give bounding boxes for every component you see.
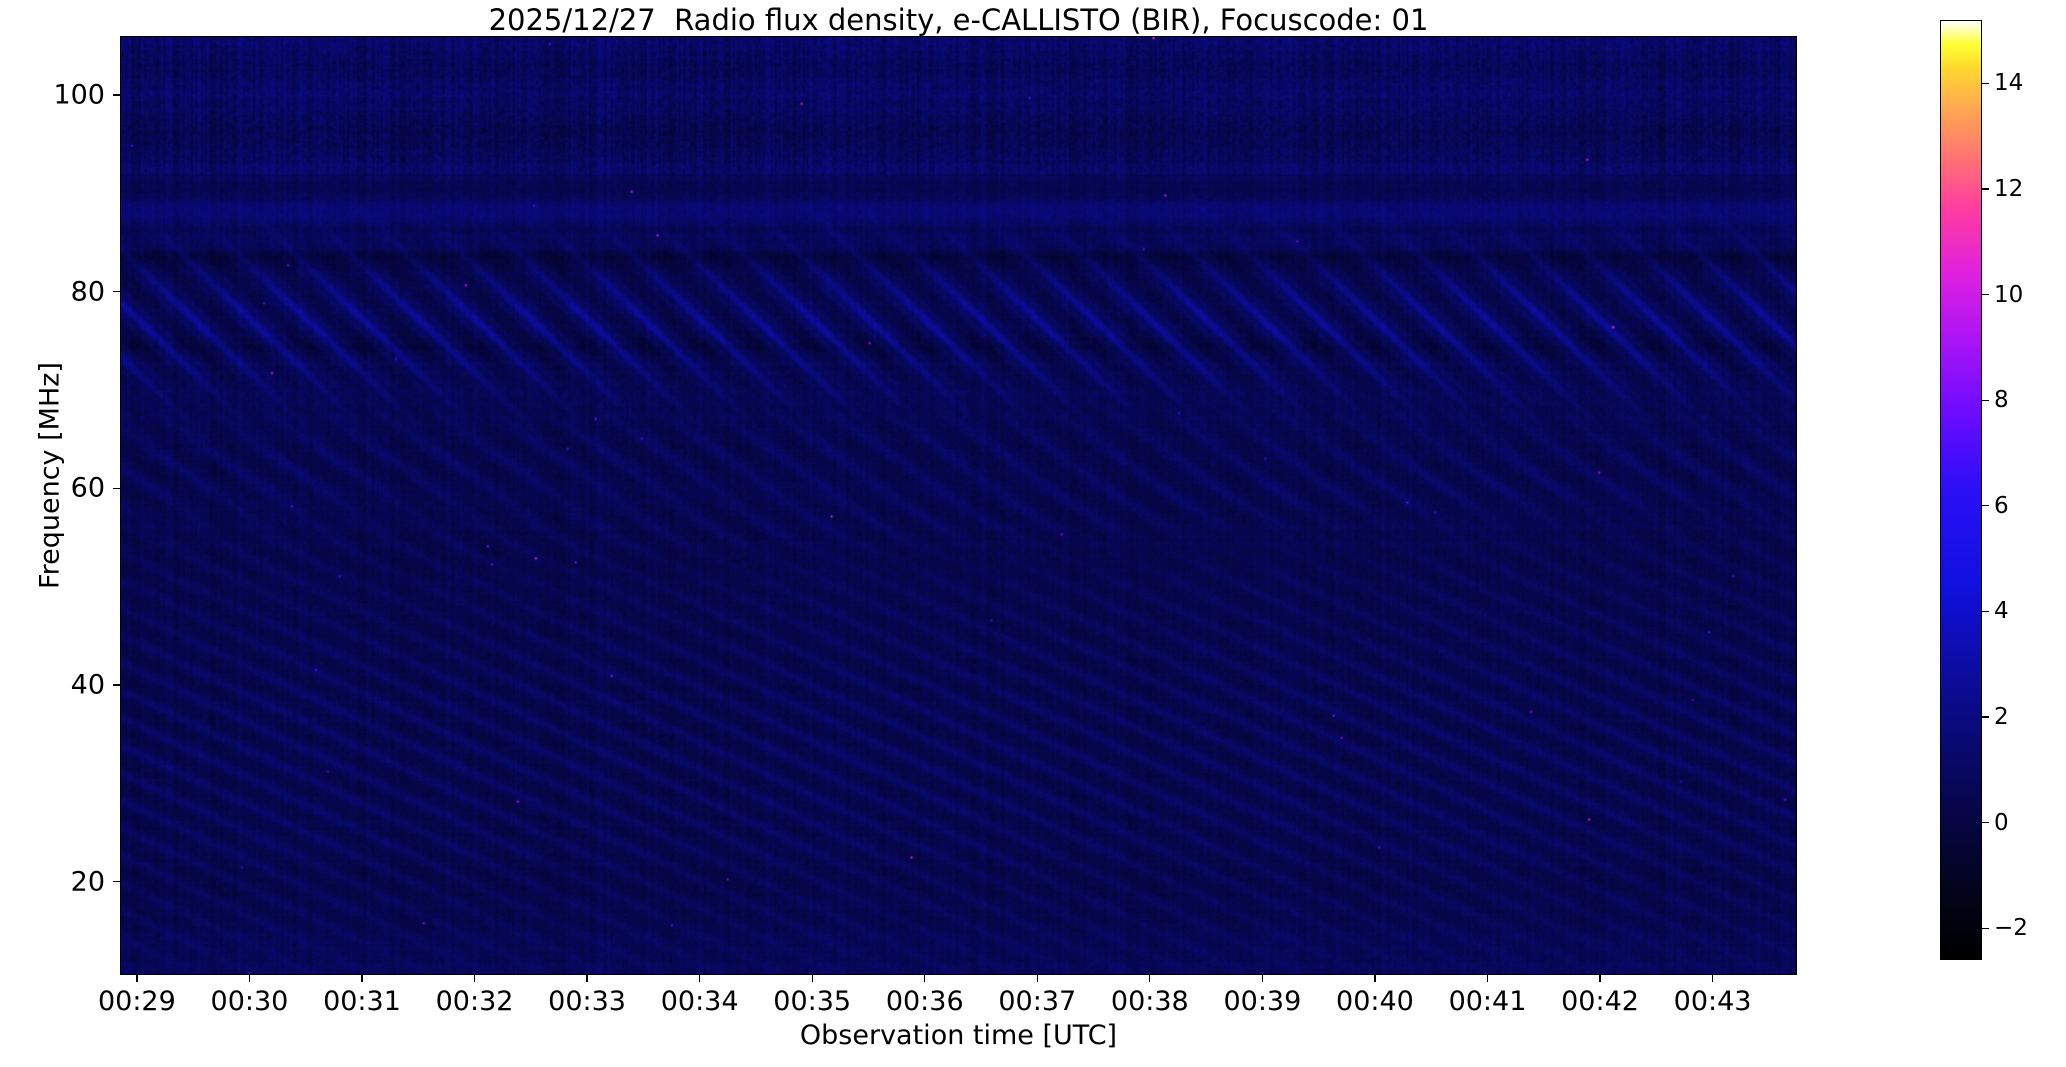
y-tick-mark (113, 684, 120, 685)
spectrogram-image (121, 37, 1796, 974)
x-axis-label: Observation time [UTC] (120, 1020, 1797, 1051)
colorbar-tick-mark (1982, 83, 1989, 84)
x-tick-mark (586, 975, 587, 982)
x-tick-mark (1712, 975, 1713, 982)
colorbar-tick-label: 8 (1994, 387, 2009, 413)
colorbar-gradient (1941, 21, 1981, 959)
colorbar-tick-label: 12 (1994, 176, 2023, 202)
x-tick-mark (1487, 975, 1488, 982)
x-tick-label: 00:31 (323, 986, 401, 1017)
y-tick-mark (113, 881, 120, 882)
colorbar-tick-label: 4 (1994, 598, 2009, 624)
colorbar-tick-label: 0 (1994, 810, 2009, 836)
x-tick-mark (1149, 975, 1150, 982)
x-tick-mark (812, 975, 813, 982)
colorbar-tick-mark (1982, 505, 1989, 506)
x-tick-label: 00:36 (886, 986, 964, 1017)
y-tick-label: 20 (0, 866, 105, 897)
colorbar-tick-label: 6 (1994, 493, 2009, 519)
x-tick-mark (924, 975, 925, 982)
spectrogram-axes[interactable] (120, 36, 1797, 975)
y-tick-label: 40 (0, 669, 105, 700)
colorbar-tick-label: 10 (1994, 282, 2023, 308)
x-tick-label: 00:39 (1223, 986, 1301, 1017)
colorbar-tick-label: −2 (1994, 915, 2028, 941)
colorbar-tick-mark (1982, 716, 1989, 717)
x-tick-mark (1374, 975, 1375, 982)
y-tick-mark (113, 291, 120, 292)
x-tick-mark (1037, 975, 1038, 982)
x-tick-label: 00:32 (436, 986, 514, 1017)
y-tick-label: 60 (0, 473, 105, 504)
colorbar-tick-mark (1982, 188, 1989, 189)
y-tick-label: 80 (0, 276, 105, 307)
colorbar-tick-mark (1982, 928, 1989, 929)
x-tick-label: 00:33 (548, 986, 626, 1017)
colorbar-tick-mark (1982, 611, 1989, 612)
x-tick-mark (1262, 975, 1263, 982)
x-tick-label: 00:42 (1561, 986, 1639, 1017)
colorbar-tick-label: 2 (1994, 704, 2009, 730)
y-tick-mark (113, 488, 120, 489)
x-tick-label: 00:34 (661, 986, 739, 1017)
y-tick-label: 100 (0, 79, 105, 110)
x-tick-mark (136, 975, 137, 982)
x-tick-label: 00:30 (211, 986, 289, 1017)
y-tick-mark (113, 94, 120, 95)
x-tick-mark (361, 975, 362, 982)
colorbar-tick-mark (1982, 822, 1989, 823)
x-tick-label: 00:35 (773, 986, 851, 1017)
x-tick-mark (474, 975, 475, 982)
x-tick-label: 00:41 (1449, 986, 1527, 1017)
x-tick-mark (699, 975, 700, 982)
page-title: 2025/12/27 Radio flux density, e-CALLIST… (120, 2, 1797, 38)
colorbar-tick-label: 14 (1994, 70, 2023, 96)
x-tick-label: 00:38 (1111, 986, 1189, 1017)
x-tick-mark (1599, 975, 1600, 982)
x-tick-label: 00:29 (98, 986, 176, 1017)
x-tick-label: 00:37 (998, 986, 1076, 1017)
x-tick-label: 00:40 (1336, 986, 1414, 1017)
colorbar-tick-mark (1982, 294, 1989, 295)
x-tick-mark (249, 975, 250, 982)
figure-canvas: 2025/12/27 Radio flux density, e-CALLIST… (0, 0, 2066, 1067)
x-tick-label: 00:43 (1674, 986, 1752, 1017)
colorbar[interactable] (1940, 20, 1982, 960)
colorbar-tick-mark (1982, 400, 1989, 401)
